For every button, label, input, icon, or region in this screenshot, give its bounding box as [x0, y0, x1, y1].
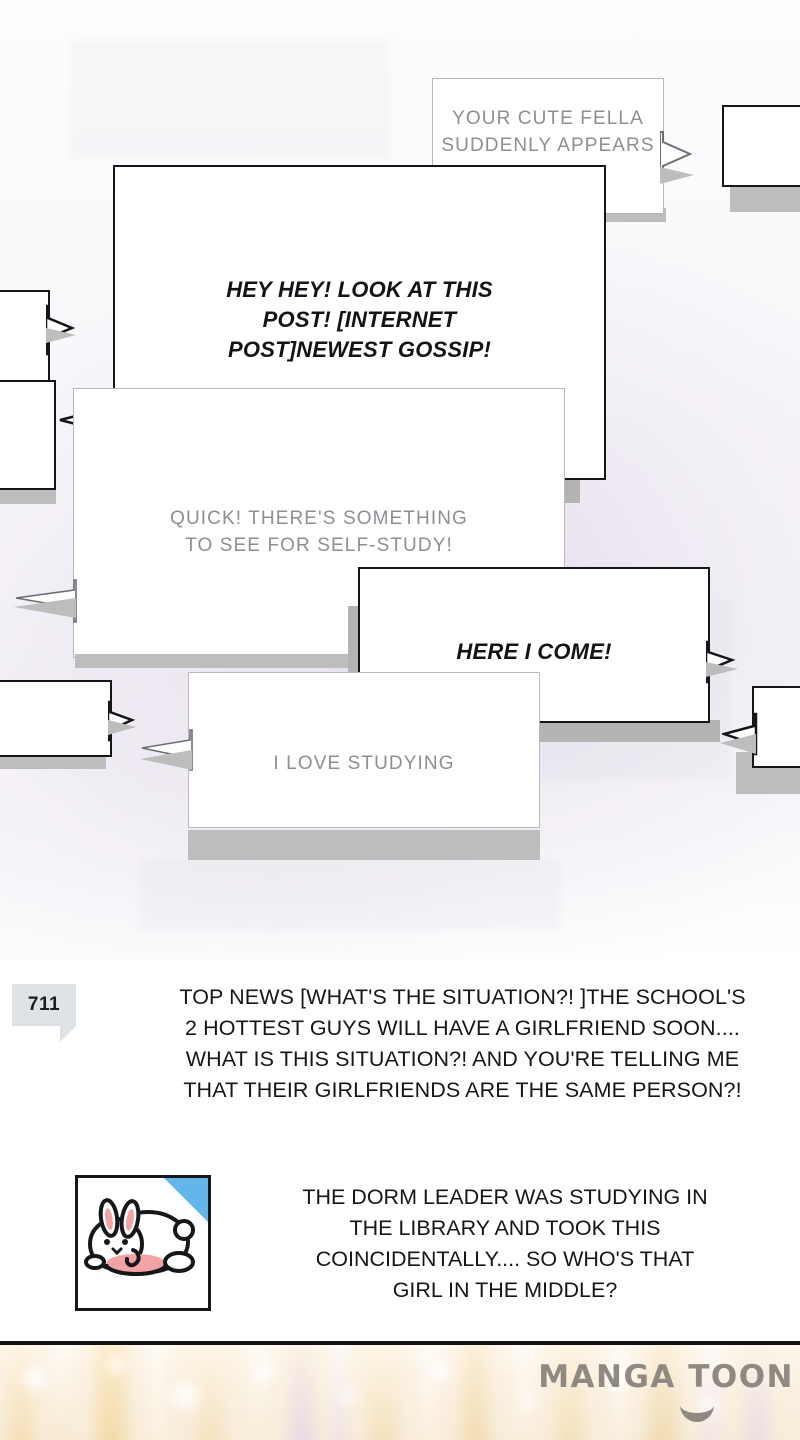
- comment-count-value: 711: [28, 994, 60, 1016]
- bokeh-blob: [520, 1393, 536, 1409]
- background-artifact: [70, 40, 390, 160]
- bokeh-streak: [290, 1345, 314, 1440]
- bubble-tail-your-cute-fella-shadow: [660, 165, 712, 187]
- bokeh-streak: [248, 1345, 268, 1440]
- bokeh-blob: [256, 1363, 274, 1381]
- bubble-shadow: [188, 830, 540, 860]
- bubble-tail-here-i-come-shadow: [706, 660, 752, 680]
- bunny-avatar-icon: [75, 1175, 211, 1311]
- bubble-empty-left-lower: [0, 680, 112, 757]
- corner-fold-icon: [164, 1178, 208, 1222]
- mangatoon-logo: MANGA TOON: [538, 1359, 794, 1395]
- bubble-quick-selfstudy-text: QUICK! THERE'S SOMETHING TO SEE FOR SELF…: [73, 505, 565, 559]
- bubble-i-love-studying-text: I LOVE STUDYING: [188, 750, 540, 777]
- caption-body-text: THE DORM LEADER WAS STUDYING IN THE LIBR…: [225, 1182, 785, 1306]
- background-artifact: [140, 860, 560, 930]
- bubble-tail-i-love-studying-shadow: [136, 748, 194, 774]
- bokeh-blob: [172, 1383, 198, 1409]
- bubble-main-gossip-text: HEY HEY! LOOK AT THIS POST! [INTERNET PO…: [115, 275, 604, 365]
- news-body-text: TOP NEWS [WHAT'S THE SITUATION?! ]THE SC…: [140, 982, 785, 1106]
- bubble-tail-right-lower-shadow: [718, 732, 758, 758]
- bokeh-streak: [150, 1345, 166, 1440]
- bubble-empty-right-lower: [752, 686, 800, 768]
- bokeh-streak: [8, 1345, 34, 1440]
- bubble-here-i-come-text: HERE I COME!: [360, 637, 708, 667]
- news-block: 711 TOP NEWS [WHAT'S THE SITUATION?! ]TH…: [0, 960, 800, 1160]
- bokeh-streak: [196, 1345, 224, 1440]
- bubble-tail-quick-selfstudy-shadow: [10, 596, 78, 622]
- bokeh-streak: [52, 1345, 70, 1440]
- comment-count-badge: 711: [12, 984, 76, 1026]
- bubble-tail-far-left-shadow: [46, 326, 90, 346]
- bokeh-blob: [24, 1367, 46, 1389]
- bubble-empty-left-upper: [0, 380, 56, 490]
- footer-banner: MANGA TOON: [0, 1345, 800, 1440]
- comic-panel: YOUR CUTE FELLA SUDDENLY APPEARS HEY HEY…: [0, 0, 800, 960]
- bokeh-streak: [462, 1345, 488, 1440]
- bokeh-streak: [368, 1345, 398, 1440]
- bokeh-streak: [420, 1345, 438, 1440]
- bokeh-streak: [514, 1345, 534, 1440]
- bubble-your-cute-fella-text: YOUR CUTE FELLA SUDDENLY APPEARS: [433, 105, 663, 159]
- bokeh-blob: [108, 1357, 124, 1373]
- badge-tail-icon: [60, 1026, 76, 1042]
- caption-block: THE DORM LEADER WAS STUDYING IN THE LIBR…: [0, 1160, 800, 1340]
- bubble-empty-right-upper: [722, 105, 800, 187]
- bokeh-blob: [340, 1389, 354, 1403]
- bokeh-blob: [430, 1361, 450, 1381]
